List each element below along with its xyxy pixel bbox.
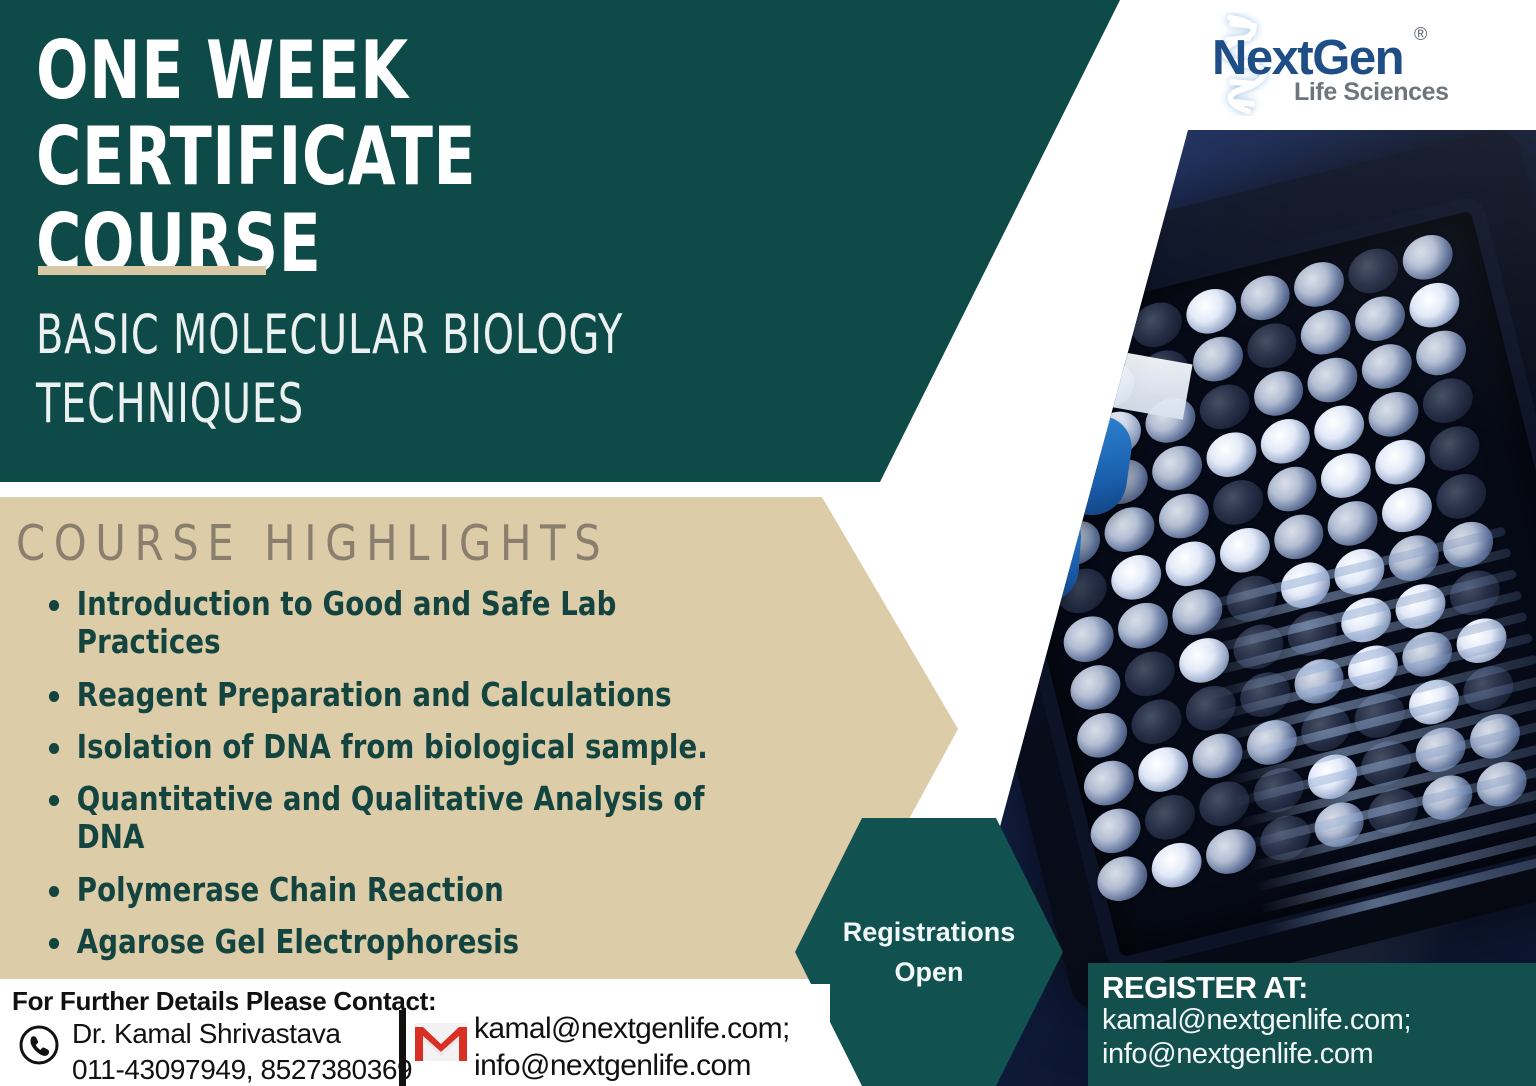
highlight-item: Introduction to Good and Safe Lab Practi… xyxy=(34,585,741,662)
pcr-well xyxy=(1373,435,1428,490)
pcr-well xyxy=(1312,400,1367,455)
pcr-well xyxy=(1129,694,1184,749)
pcr-well xyxy=(1149,441,1204,496)
contact-email-primary[interactable]: kamal@nextgenlife.com; xyxy=(474,1011,790,1048)
contact-heading: For Further Details Please Contact: xyxy=(12,986,436,1017)
title-line-1: ONE WEEK CERTIFICATE xyxy=(36,28,810,201)
brand-logo: NextGen ® Life Sciences xyxy=(1200,16,1450,112)
pcr-well xyxy=(1244,318,1299,373)
pcr-well xyxy=(1414,326,1469,381)
highlight-item: Isolation of DNA from biological sample. xyxy=(34,728,741,766)
pcr-well xyxy=(1122,646,1177,701)
pcr-well xyxy=(1292,257,1347,312)
pcr-well xyxy=(1081,755,1136,810)
page-subtitle: BASIC MOLECULAR BIOLOGY TECHNIQUES xyxy=(36,300,758,438)
registered-trademark-icon: ® xyxy=(1414,24,1427,45)
pcr-well xyxy=(1203,427,1258,482)
vent-slot xyxy=(1264,847,1536,936)
badge-line-1: Registrations xyxy=(843,917,1016,947)
pcr-well xyxy=(1346,243,1401,298)
registrations-open-badge-text: Registrations Open xyxy=(839,912,1019,993)
pcr-well xyxy=(1156,489,1211,544)
pcr-well xyxy=(1149,838,1204,893)
gmail-icon xyxy=(414,1021,468,1063)
title-gold-divider xyxy=(38,266,266,275)
badge-line-2: Open xyxy=(894,957,963,987)
highlights-heading: COURSE HIGHLIGHTS xyxy=(16,515,609,572)
logo-tagline: Life Sciences xyxy=(1294,78,1449,107)
highlight-item: Polymerase Chain Reaction xyxy=(34,871,741,909)
pcr-well xyxy=(1088,803,1143,858)
pcr-well xyxy=(1217,523,1272,578)
pcr-well xyxy=(1325,496,1380,551)
pcr-well xyxy=(1163,537,1218,592)
pcr-well xyxy=(1210,475,1265,530)
pcr-well xyxy=(1115,598,1170,653)
pcr-well xyxy=(1061,612,1116,667)
highlight-item: Reagent Preparation and Calculations xyxy=(34,676,741,714)
pcr-well xyxy=(1102,502,1157,557)
pcr-well xyxy=(1400,230,1455,285)
pcr-well xyxy=(1359,339,1414,394)
pcr-well xyxy=(1237,270,1292,325)
contact-email-secondary[interactable]: info@nextgenlife.com xyxy=(474,1048,790,1085)
highlight-item: Quantitative and Qualitative Analysis of… xyxy=(34,780,741,857)
pcr-well xyxy=(1427,421,1482,476)
highlights-list: Introduction to Good and Safe Lab Practi… xyxy=(34,585,794,1027)
pcr-well xyxy=(1021,324,1076,379)
pcr-well xyxy=(1197,380,1252,435)
pcr-well xyxy=(1135,742,1190,797)
gloved-finger xyxy=(930,380,1136,519)
register-at-title: REGISTER AT: xyxy=(1102,971,1536,1004)
pcr-well xyxy=(1054,564,1109,619)
contact-email-block: kamal@nextgenlife.com; info@nextgenlife.… xyxy=(474,1011,790,1084)
pcr-well xyxy=(1068,660,1123,715)
pcr-well xyxy=(1319,448,1374,503)
subtitle-line-2: TECHNIQUES xyxy=(36,369,758,438)
pcr-well xyxy=(1258,414,1313,469)
pcr-well xyxy=(1353,291,1408,346)
flyer-poster: ONE WEEK CERTIFICATE COURSE BASIC MOLECU… xyxy=(0,0,1536,1086)
pcr-well xyxy=(1305,353,1360,408)
pcr-well xyxy=(1407,278,1462,333)
pcr-well xyxy=(1190,332,1245,387)
pcr-well xyxy=(1034,420,1089,475)
course-highlights-panel: COURSE HIGHLIGHTS Introduction to Good a… xyxy=(0,497,960,979)
pcr-well xyxy=(1129,297,1184,352)
register-email-primary[interactable]: kamal@nextgenlife.com; xyxy=(1102,1004,1536,1038)
contact-person-name: Dr. Kamal Shrivastava xyxy=(72,1016,412,1052)
pcr-well xyxy=(1366,387,1421,442)
gloved-finger xyxy=(930,491,1083,604)
pcr-well xyxy=(1074,707,1129,762)
pcr-well xyxy=(1271,510,1326,565)
pcr-well xyxy=(1075,311,1130,366)
pcr-well xyxy=(1108,550,1163,605)
highlight-item: Agarose Gel Electrophoresis xyxy=(34,923,741,961)
register-email-secondary[interactable]: info@nextgenlife.com xyxy=(1102,1038,1536,1072)
contact-details: Dr. Kamal Shrivastava 011-43097949, 8527… xyxy=(72,1016,412,1086)
pcr-well xyxy=(1027,372,1082,427)
contact-divider xyxy=(399,1010,406,1086)
pcr-well xyxy=(1142,790,1197,845)
register-at-box: REGISTER AT: kamal@nextgenlife.com; info… xyxy=(1088,963,1536,1086)
pcr-well xyxy=(1183,284,1238,339)
pcr-well xyxy=(1095,851,1150,906)
pcr-well xyxy=(1420,373,1475,428)
pcr-well xyxy=(1298,305,1353,360)
contact-phone-numbers: 011-43097949, 8527380369 xyxy=(72,1052,412,1086)
subtitle-line-1: BASIC MOLECULAR BIOLOGY xyxy=(36,300,758,369)
page-title: ONE WEEK CERTIFICATE COURSE xyxy=(36,28,810,287)
pcr-well xyxy=(1379,483,1434,538)
pcr-well xyxy=(1251,366,1306,421)
pcr-well xyxy=(1264,462,1319,517)
pcr-well xyxy=(1434,469,1489,524)
phone-icon xyxy=(18,1024,60,1066)
